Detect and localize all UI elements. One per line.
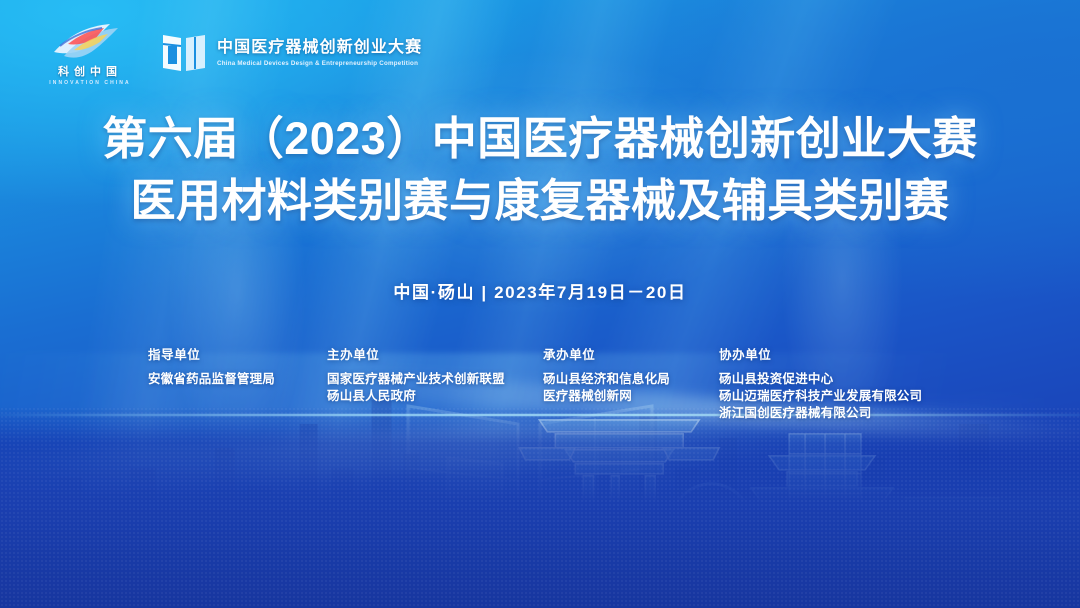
event-poster: 科创中国 INNOVATION CHINA 中国医疗器械创新创业大赛 China… — [0, 0, 1080, 608]
competition-cn-title: 中国医疗器械创新创业大赛 — [217, 39, 422, 57]
organizer-item: 砀山县经济和信息化局 — [543, 371, 670, 388]
organizer-heading: 协办单位 — [719, 344, 922, 363]
organizer-column-organizer: 承办单位 砀山县经济和信息化局 医疗器械创新网 — [543, 344, 670, 405]
logo-bar: 科创中国 INNOVATION CHINA 中国医疗器械创新创业大赛 China… — [44, 22, 422, 84]
organizer-heading: 主办单位 — [327, 344, 505, 363]
open-door-logo-icon — [160, 31, 208, 75]
poster-title: 第六届（2023）中国医疗器械创新创业大赛 医用材料类别赛与康复器械及辅具类别赛 — [0, 108, 1080, 232]
organizer-column-guidance: 指导单位 安徽省药品监督管理局 — [148, 344, 275, 388]
organizer-item: 国家医疗器械产业技术创新联盟 — [327, 371, 505, 388]
ground-dot-texture — [0, 407, 1080, 608]
competition-en-title: China Medical Devices Design & Entrepren… — [217, 60, 422, 67]
organizer-item: 安徽省药品监督管理局 — [148, 371, 275, 388]
organizer-column-host: 主办单位 国家医疗器械产业技术创新联盟 砀山县人民政府 — [327, 344, 505, 405]
innovation-china-en-label: INNOVATION CHINA — [44, 80, 136, 86]
innovation-china-logo: 科创中国 INNOVATION CHINA — [44, 22, 136, 84]
organizer-item: 浙江国创医疗器械有限公司 — [719, 405, 922, 422]
title-line-1: 第六届（2023）中国医疗器械创新创业大赛 — [0, 108, 1080, 170]
dove-emblem-icon — [44, 22, 136, 62]
event-location-date: 中国·砀山 | 2023年7月19日－20日 — [0, 278, 1080, 303]
competition-logo: 中国医疗器械创新创业大赛 China Medical Devices Desig… — [160, 31, 422, 75]
organizer-item: 医疗器械创新网 — [543, 388, 670, 405]
organizer-columns: 指导单位 安徽省药品监督管理局 主办单位 国家医疗器械产业技术创新联盟 砀山县人… — [0, 344, 1080, 434]
organizer-column-coorganizer: 协办单位 砀山县投资促进中心 砀山迈瑞医疗科技产业发展有限公司 浙江国创医疗器械… — [719, 344, 922, 422]
organizer-item: 砀山县投资促进中心 — [719, 371, 922, 388]
organizer-item: 砀山迈瑞医疗科技产业发展有限公司 — [719, 388, 922, 405]
organizer-heading: 指导单位 — [148, 344, 275, 363]
organizer-item: 砀山县人民政府 — [327, 388, 505, 405]
innovation-china-cn-label: 科创中国 — [44, 63, 136, 79]
organizer-heading: 承办单位 — [543, 344, 670, 363]
title-line-2: 医用材料类别赛与康复器械及辅具类别赛 — [0, 170, 1080, 232]
